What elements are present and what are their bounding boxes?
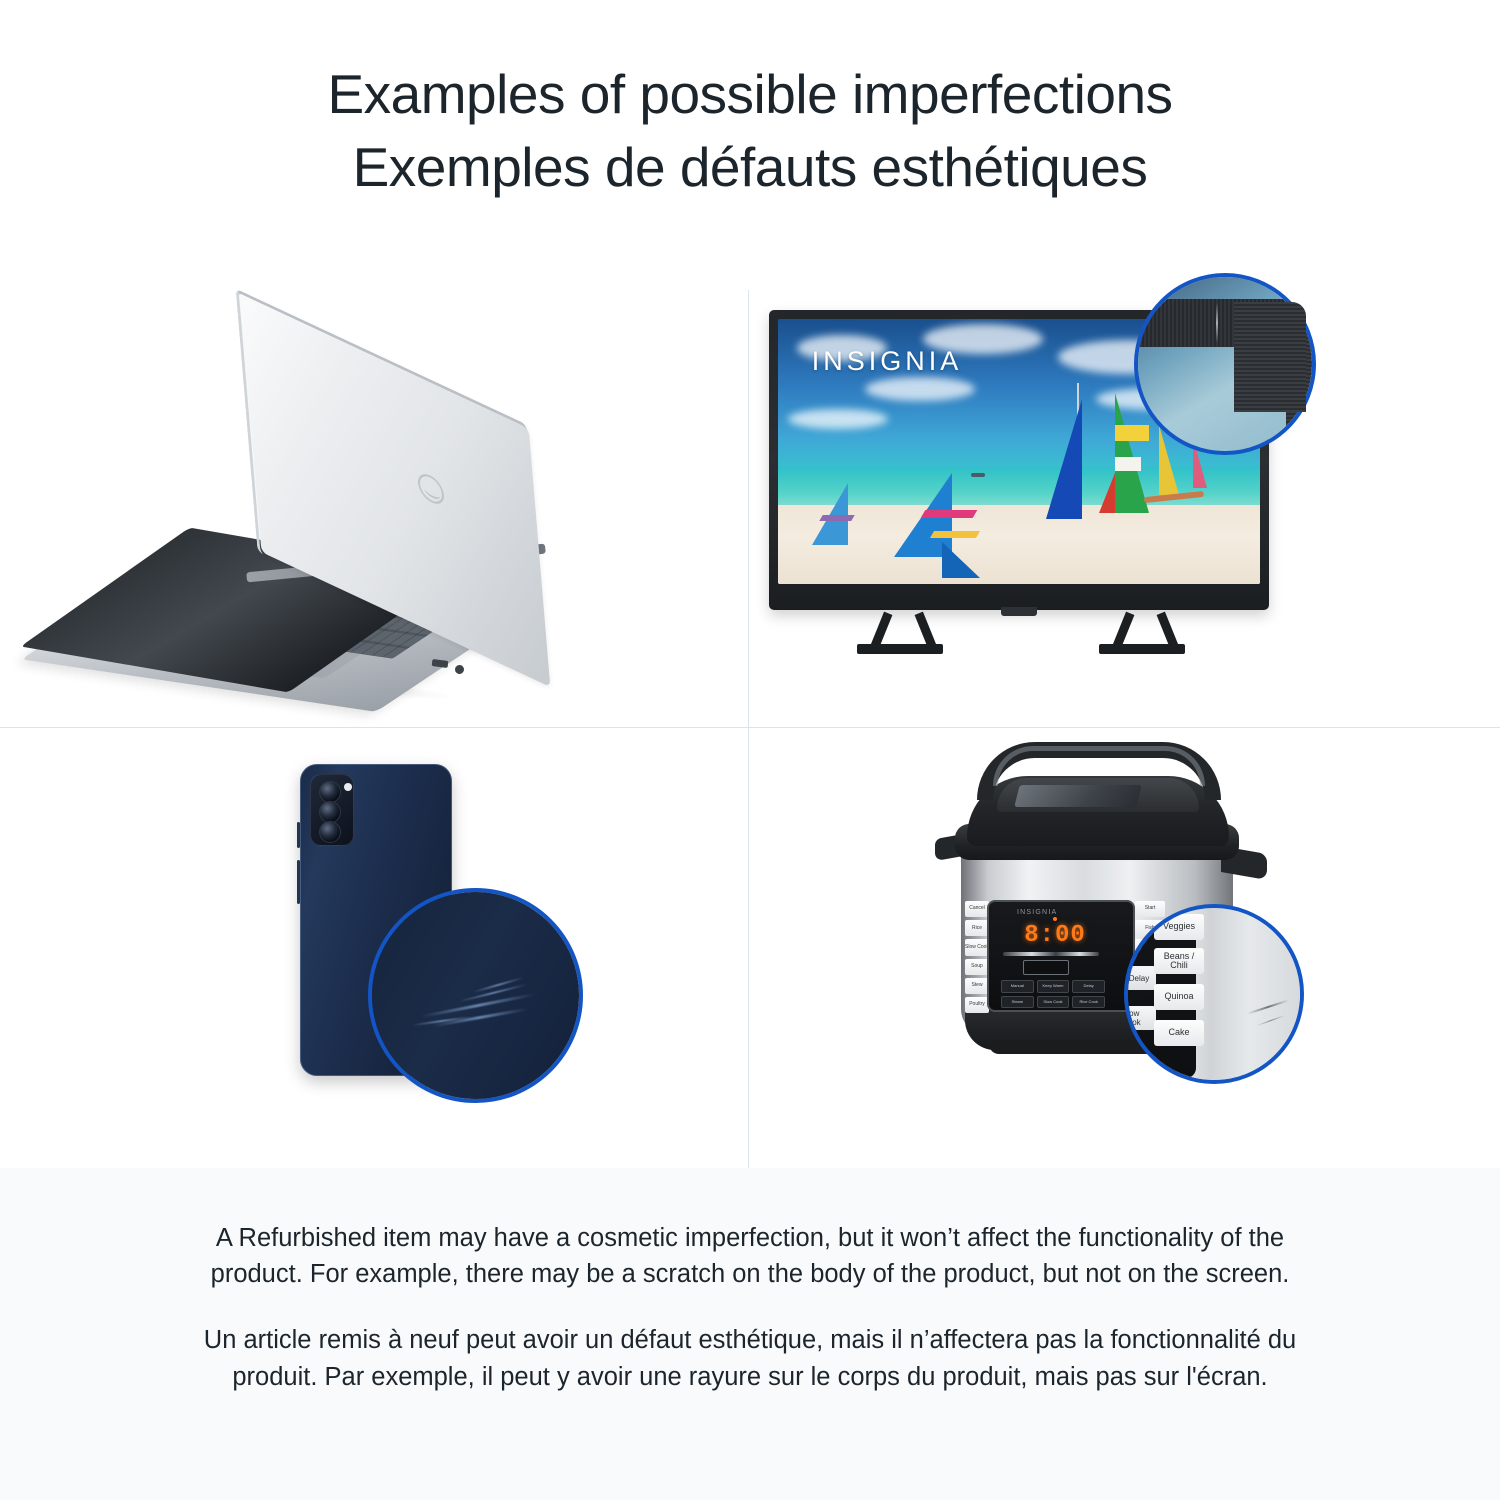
laptop-illustration xyxy=(0,262,748,727)
scuff-mark-bezel xyxy=(1216,303,1218,343)
example-cell-pressure-cooker: Cancel Rice Slow Cook Soup Stew Poultry … xyxy=(749,728,1500,1168)
cloud-shape xyxy=(788,409,888,429)
status-indicator-dot xyxy=(1053,917,1057,921)
page-title-english: Examples of possible imperfections xyxy=(327,58,1172,131)
cooker-button[interactable]: Delay xyxy=(1072,980,1105,993)
cooker-button[interactable]: Soup xyxy=(965,959,989,975)
example-cell-television: INSIGNIA xyxy=(749,262,1500,727)
magnified-button: Veggies xyxy=(1154,914,1204,940)
television-illustration: INSIGNIA xyxy=(749,262,1500,727)
cooker-center-button-grid[interactable]: Manual Keep Warm Delay Steam Slow Cook R… xyxy=(1001,980,1105,1008)
beach-tent-right xyxy=(942,542,980,578)
cooker-button[interactable]: Keep Warm xyxy=(1037,980,1070,993)
laptop-audio-port xyxy=(454,664,464,674)
example-cell-smartphone xyxy=(0,728,748,1168)
tv-brand-label: INSIGNIA xyxy=(812,346,963,377)
cooker-left-button-column[interactable]: Cancel Rice Slow Cook Soup Stew Poultry xyxy=(965,898,989,1016)
cooker-button[interactable]: Steam xyxy=(1001,996,1034,1009)
tv-foot-left xyxy=(857,644,943,654)
tent-stripe-purple xyxy=(820,515,855,521)
page-header: Examples of possible imperfections Exemp… xyxy=(0,0,1500,262)
cooker-button[interactable]: Cancel xyxy=(965,901,989,917)
cooker-button[interactable]: Slow Cook xyxy=(965,939,989,955)
cloud-shape xyxy=(865,377,975,401)
cooker-control-panel: INSIGNIA 8:00 Manual Keep Warm Delay Ste… xyxy=(987,900,1135,1012)
tv-foot-right xyxy=(1099,644,1185,654)
sea-band xyxy=(778,467,1260,509)
cooker-button[interactable]: Stew xyxy=(965,978,989,994)
camera-lens-icon xyxy=(319,781,341,803)
phone-camera-module xyxy=(310,774,354,846)
sail-stripe-white xyxy=(1115,457,1141,471)
camera-lens-icon xyxy=(319,821,341,843)
tv-bezel-corner-magnified-overflow xyxy=(1234,302,1306,412)
tv-leg-right-b xyxy=(1157,612,1179,649)
cooker-button[interactable]: Poultry xyxy=(965,997,989,1013)
tv-leg-left-b xyxy=(915,612,937,649)
tv-leg-right-a xyxy=(1113,612,1135,649)
disclaimer-paragraph-french: Un article remis à neuf peut avoir un dé… xyxy=(180,1322,1320,1394)
magnifier-circle-smartphone xyxy=(368,888,583,1103)
cooker-button[interactable]: Manual xyxy=(1001,980,1034,993)
disclaimer-paragraph-english: A Refurbished item may have a cosmetic i… xyxy=(180,1220,1320,1292)
cooker-secondary-display xyxy=(1023,960,1069,975)
magnified-side-button: Delay xyxy=(1124,966,1156,990)
phone-volume-button xyxy=(297,822,300,848)
phone-power-button xyxy=(297,860,300,904)
example-cell-laptop xyxy=(0,262,748,727)
cooker-button[interactable]: Slow Cook xyxy=(1037,996,1070,1009)
tv-leg-left-a xyxy=(871,612,893,649)
cooker-button[interactable]: Rice Cook xyxy=(1072,996,1105,1009)
magnified-side-button: Slow Cook xyxy=(1124,1006,1156,1030)
camera-lens-icon xyxy=(319,801,341,823)
pressure-cooker-illustration: Cancel Rice Slow Cook Soup Stew Poultry … xyxy=(749,728,1500,1168)
camera-flash-icon xyxy=(344,783,352,791)
magnified-button: Quinoa xyxy=(1154,984,1204,1010)
magnifier-circle-pressure-cooker: Delay Slow Cook Veggies Beans / Chili Qu… xyxy=(1124,904,1304,1084)
sail-red xyxy=(1099,473,1115,513)
disclaimer-footer: A Refurbished item may have a cosmetic i… xyxy=(0,1168,1500,1500)
tent-stripe-yellow xyxy=(930,531,980,538)
cooker-handle-highlight xyxy=(993,746,1205,786)
distant-boat xyxy=(971,473,985,477)
sail-blue xyxy=(1046,399,1082,519)
smartphone-illustration xyxy=(0,728,748,1168)
product-examples-grid: INSIGNIA xyxy=(0,262,1500,1168)
page-title-french: Exemples de défauts esthétiques xyxy=(353,131,1148,204)
magnified-button: Cake xyxy=(1154,1020,1204,1046)
magnified-button: Beans / Chili xyxy=(1154,948,1204,974)
cooker-brand-label: INSIGNIA xyxy=(1017,909,1057,916)
cooker-mode-indicator-bar xyxy=(1003,952,1099,956)
tent-stripe-pink xyxy=(920,510,977,518)
tv-logo-bump xyxy=(1001,607,1037,616)
cooker-button[interactable]: Rice xyxy=(965,920,989,936)
cooker-timer-display: 8:00 xyxy=(1019,922,1091,948)
